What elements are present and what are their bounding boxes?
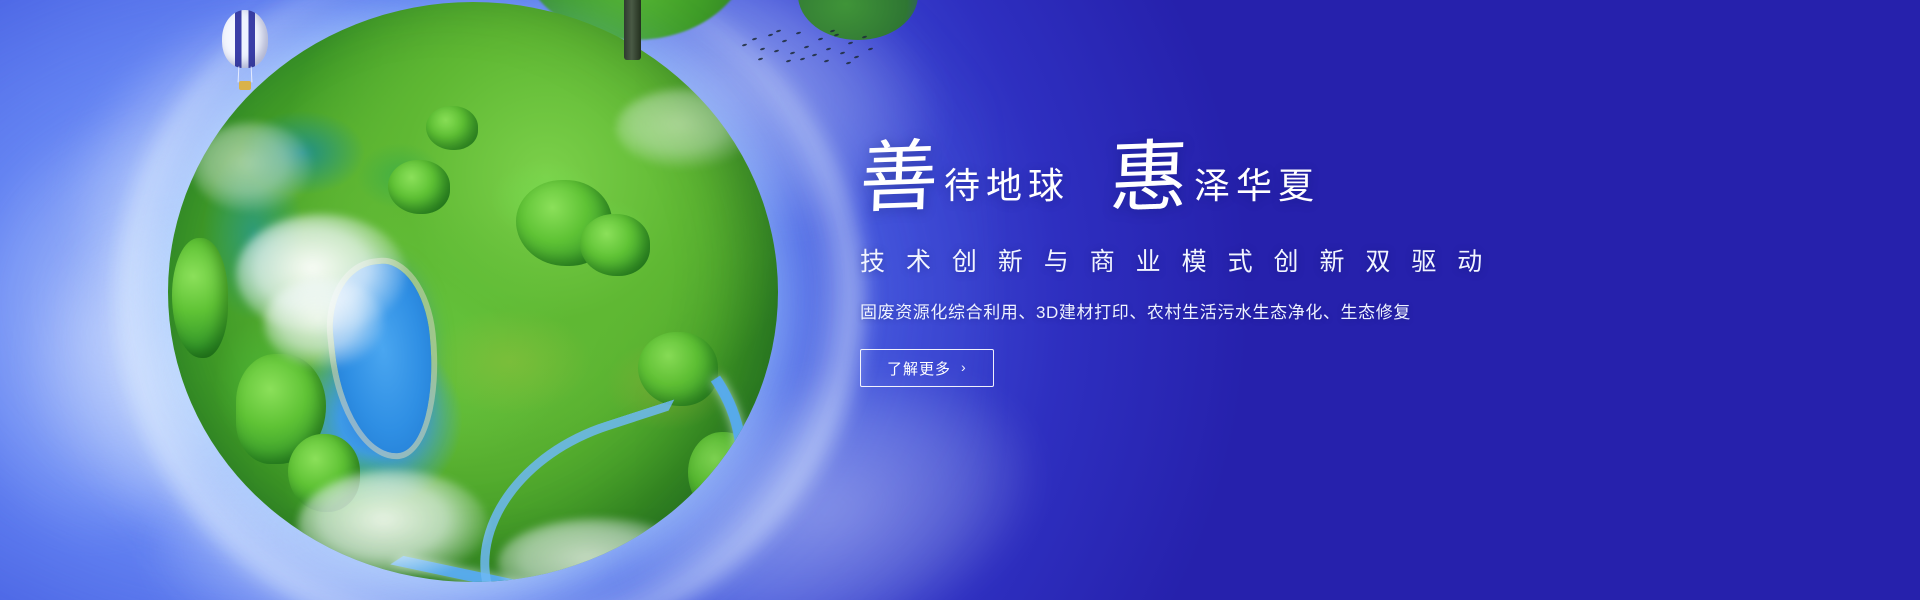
bush-icon	[172, 238, 228, 358]
balloon-lines	[238, 66, 253, 82]
headline-lead-char: 惠	[1109, 141, 1190, 215]
headline-rest-chars: 泽华夏	[1194, 168, 1320, 214]
page-subtitle: 技 术 创 新 与 商 业 模 式 创 新 双 驱 动	[860, 242, 1560, 278]
headline-rest-chars: 待地球	[944, 168, 1070, 214]
bush-icon	[388, 160, 450, 214]
hot-air-balloon-icon	[222, 10, 268, 102]
balloon-basket	[239, 81, 251, 90]
headline-lead-char: 善	[859, 141, 940, 215]
tree-trunk-icon	[624, 0, 641, 60]
chevron-right-icon: ›	[961, 359, 967, 375]
page-description: 固废资源化综合利用、3D建材打印、农村生活污水生态净化、生态修复	[860, 298, 1560, 323]
cloud-icon	[192, 122, 312, 212]
cloud-icon	[616, 88, 756, 168]
learn-more-button[interactable]: 了解更多 ›	[860, 349, 994, 387]
headline-phrase-one: 善 待地球	[860, 142, 1070, 214]
bush-icon	[580, 214, 650, 276]
bush-icon	[426, 106, 478, 150]
cloud-icon	[264, 278, 384, 368]
headline-phrase-two: 惠 泽华夏	[1110, 142, 1320, 214]
cloud-icon	[298, 470, 488, 580]
learn-more-label: 了解更多	[887, 358, 951, 379]
hero-content: 善 待地球 惠 泽华夏 技 术 创 新 与 商 业 模 式 创 新 双 驱 动 …	[860, 118, 1560, 387]
bird-flock-icon	[740, 28, 870, 68]
page-title: 善 待地球 惠 泽华夏	[860, 118, 1560, 214]
balloon-envelope	[222, 10, 268, 68]
hero-banner: 善 待地球 惠 泽华夏 技 术 创 新 与 商 业 模 式 创 新 双 驱 动 …	[0, 0, 1920, 600]
globe-illustration	[150, 0, 830, 600]
